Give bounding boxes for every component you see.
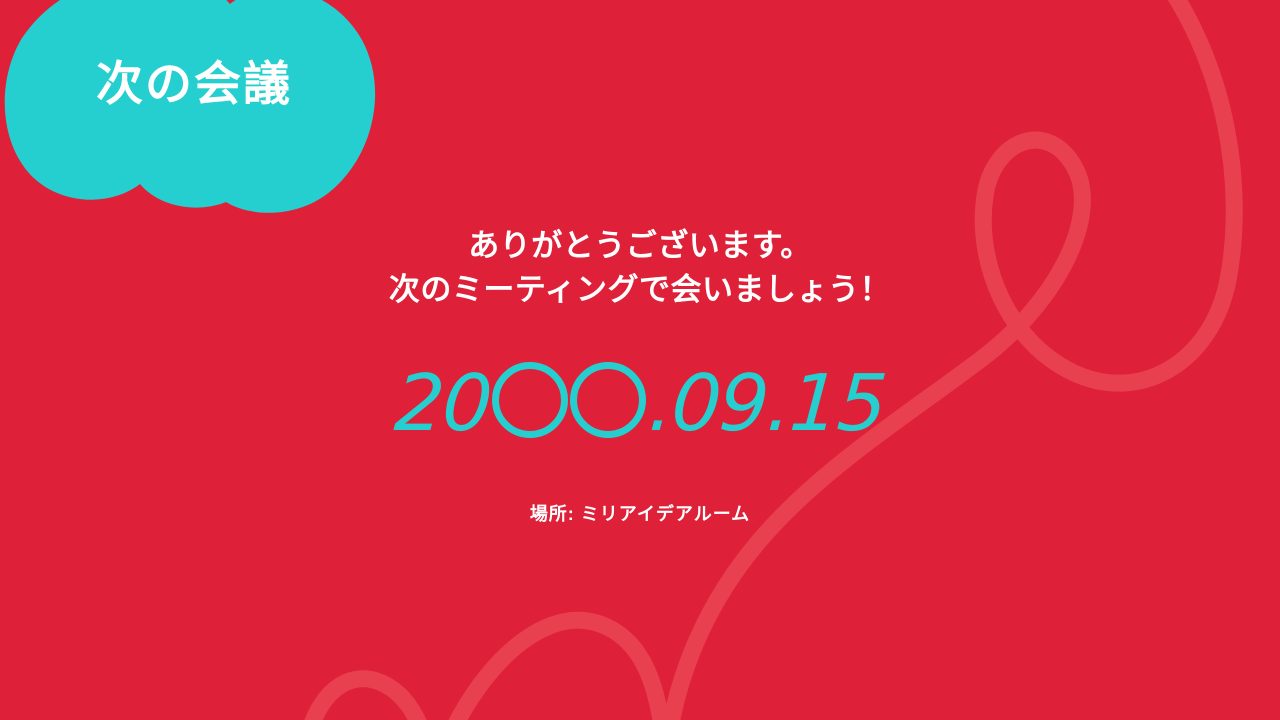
year-placeholder-circle-1 — [492, 362, 568, 438]
date-month-day: .09.15 — [645, 352, 888, 456]
slide-canvas: 次の会議 ありがとうございます。 次のミーティングで会いましょう！ 20.09.… — [0, 0, 1280, 720]
year-placeholder-circle-2 — [570, 362, 646, 438]
wave-path-bottom-left — [434, 620, 666, 720]
wave-path-bottom-loop — [300, 679, 434, 720]
date-year-prefix: 20 — [392, 352, 495, 456]
next-meeting-date: 20.09.15 — [0, 352, 1280, 456]
meeting-location: 場所: ミリアイデアルーム — [0, 500, 1280, 526]
title-badge-label: 次の会議 — [96, 60, 292, 107]
title-badge: 次の会議 — [0, 0, 410, 218]
thank-you-message: ありがとうございます。 次のミーティングで会いましょう！ — [0, 224, 1280, 312]
message-line-1: ありがとうございます。 — [0, 224, 1280, 268]
message-line-2: 次のミーティングで会いましょう！ — [0, 268, 1280, 312]
